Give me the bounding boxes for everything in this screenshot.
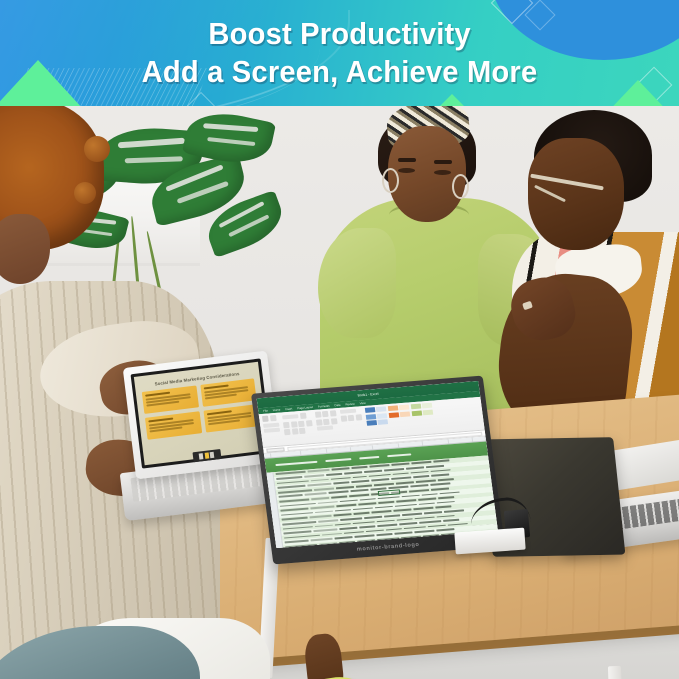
ribbon-group-alignment[interactable] — [314, 410, 339, 440]
tab-file[interactable]: File — [263, 409, 268, 413]
laptop-left-logo-badge — [192, 449, 221, 462]
slide-card — [200, 379, 257, 407]
slide-card — [145, 412, 202, 440]
excel-window[interactable]: Book1 - Excel File Home Insert Page Layo… — [257, 381, 498, 548]
hoop-earring — [382, 168, 399, 193]
ribbon-group-number[interactable] — [339, 408, 364, 438]
slide-card — [142, 386, 199, 414]
hair-curl — [84, 136, 110, 162]
face — [528, 138, 624, 250]
slide-card-grid — [142, 379, 260, 440]
eye — [434, 170, 451, 175]
blouse-sleeve-left — [318, 228, 396, 338]
name-box[interactable] — [266, 447, 284, 452]
face — [388, 126, 466, 222]
eyebrow — [398, 158, 416, 162]
slide-card — [203, 405, 260, 433]
presentation-slide: Social Media Marketing Considerations — [134, 362, 269, 466]
tab-insert[interactable]: Insert — [285, 407, 293, 412]
monitor-screen[interactable]: Book1 - Excel File Home Insert Page Layo… — [257, 381, 498, 548]
ribbon-group-clipboard[interactable] — [262, 415, 282, 445]
tab-view[interactable]: View — [359, 401, 366, 405]
monitor-brand-logo: monitor-brand-logo — [356, 542, 419, 553]
promo-banner: Boost Productivity Add a Screen, Achieve… — [0, 0, 679, 106]
tab-data[interactable]: Data — [334, 403, 340, 407]
ribbon-group-font[interactable] — [282, 412, 314, 443]
product-lifestyle-image: Boost Productivity Add a Screen, Achieve… — [0, 0, 679, 679]
eyebrow — [434, 160, 452, 164]
lifestyle-photo: Social Media Marketing Considerations — [0, 106, 679, 679]
eye — [398, 168, 415, 173]
banner-headline-line-1: Boost Productivity — [208, 16, 470, 52]
banner-text-block: Boost Productivity Add a Screen, Achieve… — [0, 0, 679, 106]
hoop-earring — [452, 174, 469, 199]
tab-review[interactable]: Review — [345, 402, 355, 407]
banner-headline-line-2: Add a Screen, Achieve More — [142, 54, 538, 90]
tab-home[interactable]: Home — [273, 408, 281, 413]
hair-curl — [74, 182, 96, 204]
ribbon-group-styles[interactable] — [364, 402, 438, 436]
